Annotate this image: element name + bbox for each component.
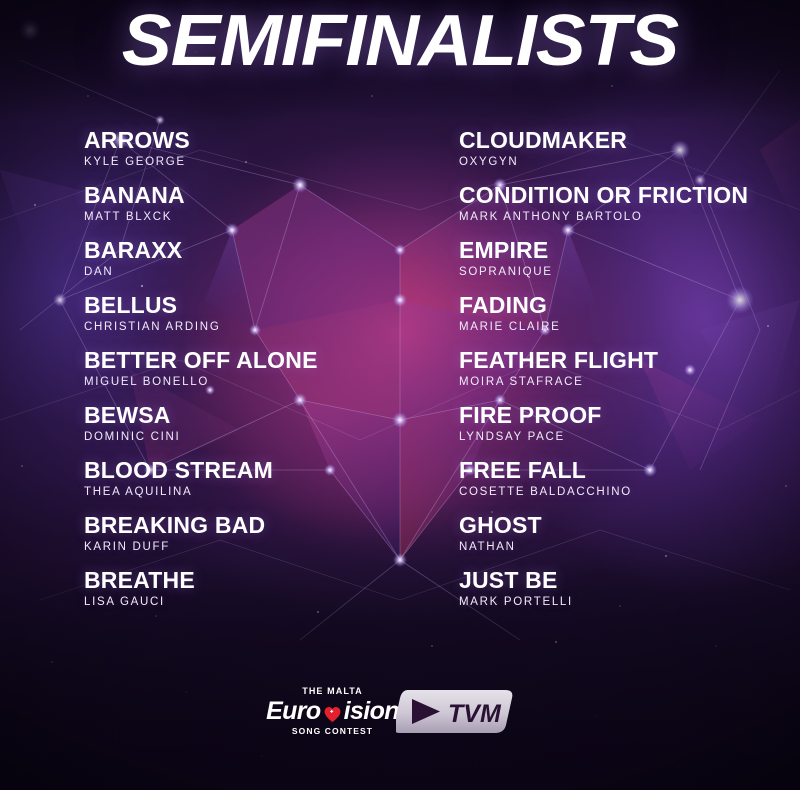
entry-song-title: ARROWS xyxy=(84,128,444,153)
entry-song-title: FADING xyxy=(459,293,789,318)
left-column: ARROWSKYLE GEORGEBANANAMATT BLXCKBARAXXD… xyxy=(84,128,444,623)
entry-song-title: BEWSA xyxy=(84,403,444,428)
footer-logos: THE MALTA Euro ision SONG CONTEST xyxy=(0,686,800,736)
esc-top-line: THE MALTA xyxy=(302,686,363,697)
semifinalist-entry: EMPIRESOPRANIQUE xyxy=(459,238,789,293)
semifinalist-entry: CLOUDMAKEROXYGYN xyxy=(459,128,789,183)
right-column: CLOUDMAKEROXYGYNCONDITION OR FRICTIONMAR… xyxy=(459,128,789,623)
entry-artist-name: THEA AQUILINA xyxy=(84,486,444,499)
tvm-logo: TVM xyxy=(396,688,517,735)
entry-artist-name: MARK ANTHONY BARTOLO xyxy=(459,211,789,224)
entry-artist-name: LYNDSAY PACE xyxy=(459,431,789,444)
entry-artist-name: NATHAN xyxy=(459,541,789,554)
semifinalist-entry: FREE FALLCOSETTE BALDACCHINO xyxy=(459,458,789,513)
semifinalist-entry: BETTER OFF ALONEMIGUEL BONELLO xyxy=(84,348,444,403)
entry-artist-name: MOIRA STAFRACE xyxy=(459,376,789,389)
tvm-wordmark: TVM xyxy=(448,700,502,728)
entry-song-title: BANANA xyxy=(84,183,444,208)
entry-song-title: FIRE PROOF xyxy=(459,403,789,428)
esc-word-euro: Euro xyxy=(266,697,322,725)
semifinalist-entry: BANANAMATT BLXCK xyxy=(84,183,444,238)
entry-artist-name: KYLE GEORGE xyxy=(84,156,444,169)
page-title: SEMIFINALISTS xyxy=(0,4,800,78)
semifinalist-entry: FEATHER FLIGHTMOIRA STAFRACE xyxy=(459,348,789,403)
entry-artist-name: MARIE CLAIRE xyxy=(459,321,789,334)
entry-song-title: GHOST xyxy=(459,513,789,538)
entry-song-title: BETTER OFF ALONE xyxy=(84,348,444,373)
esc-wordmark: Euro ision xyxy=(266,697,399,725)
entry-song-title: FREE FALL xyxy=(459,458,789,483)
semifinalist-entry: BREAKING BADKARIN DUFF xyxy=(84,513,444,568)
entry-artist-name: COSETTE BALDACCHINO xyxy=(459,486,789,499)
semifinalist-entry: BREATHELISA GAUCI xyxy=(84,568,444,623)
entry-song-title: JUST BE xyxy=(459,568,789,593)
entry-song-title: EMPIRE xyxy=(459,238,789,263)
entry-song-title: BREATHE xyxy=(84,568,444,593)
entry-artist-name: SOPRANIQUE xyxy=(459,266,789,279)
entry-song-title: BELLUS xyxy=(84,293,444,318)
semifinalist-entry: FADINGMARIE CLAIRE xyxy=(459,293,789,348)
semifinalist-entry: FIRE PROOFLYNDSAY PACE xyxy=(459,403,789,458)
semifinalist-entry: ARROWSKYLE GEORGE xyxy=(84,128,444,183)
entry-artist-name: MIGUEL BONELLO xyxy=(84,376,444,389)
entry-artist-name: MARK PORTELLI xyxy=(459,596,789,609)
tvm-logo-graphic: TVM xyxy=(396,688,517,735)
semifinalist-entry: BLOOD STREAMTHEA AQUILINA xyxy=(84,458,444,513)
semifinalist-entry: BELLUSCHRISTIAN ARDING xyxy=(84,293,444,348)
semifinalist-entry: JUST BEMARK PORTELLI xyxy=(459,568,789,623)
entry-artist-name: OXYGYN xyxy=(459,156,789,169)
entry-artist-name: MATT BLXCK xyxy=(84,211,444,224)
entry-song-title: FEATHER FLIGHT xyxy=(459,348,789,373)
malta-eurovision-logo: THE MALTA Euro ision SONG CONTEST xyxy=(284,686,382,736)
entry-song-title: CLOUDMAKER xyxy=(459,128,789,153)
entry-song-title: BREAKING BAD xyxy=(84,513,444,538)
esc-word-vision: ision xyxy=(343,697,399,725)
semifinalist-entry: BEWSADOMINIC CINI xyxy=(84,403,444,458)
entry-song-title: CONDITION OR FRICTION xyxy=(459,183,789,208)
heart-icon xyxy=(323,702,342,721)
entry-song-title: BARAXX xyxy=(84,238,444,263)
semifinalist-entry: GHOSTNATHAN xyxy=(459,513,789,568)
entry-artist-name: CHRISTIAN ARDING xyxy=(84,321,444,334)
entry-artist-name: DOMINIC CINI xyxy=(84,431,444,444)
entry-song-title: BLOOD STREAM xyxy=(84,458,444,483)
entry-artist-name: LISA GAUCI xyxy=(84,596,444,609)
entry-artist-name: DAN xyxy=(84,266,444,279)
semifinalists-poster: SEMIFINALISTS ARROWSKYLE GEORGEBANANAMAT… xyxy=(0,0,800,790)
esc-bottom-line: SONG CONTEST xyxy=(292,726,373,736)
semifinalist-entry: BARAXXDAN xyxy=(84,238,444,293)
semifinalist-entry: CONDITION OR FRICTIONMARK ANTHONY BARTOL… xyxy=(459,183,789,238)
entry-artist-name: KARIN DUFF xyxy=(84,541,444,554)
